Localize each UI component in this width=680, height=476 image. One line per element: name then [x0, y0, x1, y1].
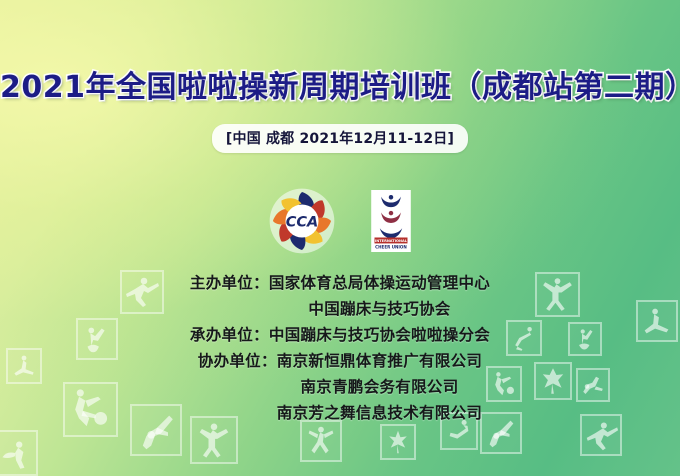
poster-canvas: 2021年全国啦啦操新周期培训班（成都站第二期） [中国 成都 2021年12月… — [0, 0, 680, 476]
title-container: 2021年全国啦啦操新周期培训班（成都站第二期） — [0, 62, 680, 106]
organizer-line: 承办单位：中国蹦床与技巧协会啦啦操分会 — [0, 322, 680, 348]
organizer-line: 协办单位：南京芳之舞信息技术有限公司 — [0, 400, 680, 426]
page-title: 2021年全国啦啦操新周期培训班（成都站第二期） — [0, 62, 680, 106]
cheer-jump-icon — [300, 420, 342, 462]
icu-logo: INTERNATIONAL CHEER UNION — [371, 190, 411, 252]
organizer-line: 主办单位：中国蹦床与技巧协会 — [0, 296, 680, 322]
organizer-value: 南京新恒鼎体育推广有限公司 — [277, 352, 482, 370]
organizer-line: 协办单位：南京新恒鼎体育推广有限公司 — [0, 348, 680, 374]
organizer-line: 主办单位：国家体育总局体操运动管理中心 — [0, 270, 680, 296]
organizer-line: 协办单位：南京青鹏会务有限公司 — [0, 374, 680, 400]
organizer-value: 南京芳之舞信息技术有限公司 — [277, 404, 482, 422]
organizer-label: 主办单位： — [190, 274, 269, 292]
cheer-pom-icon — [380, 424, 416, 460]
organizer-label: 承办单位： — [190, 326, 269, 344]
organizer-value: 国家体育总局体操运动管理中心 — [269, 274, 490, 292]
icu-banner-line2: CHEER UNION — [375, 245, 407, 250]
cca-logo: CCA — [269, 188, 335, 254]
organizer-value: 中国蹦床与技巧协会啦啦操分会 — [269, 326, 490, 344]
gymnast-ribbon-icon — [0, 430, 38, 476]
organizer-info-block: 主办单位：国家体育总局体操运动管理中心 主办单位：中国蹦床与技巧协会 承办单位：… — [0, 270, 680, 426]
organizer-value: 南京青鹏会务有限公司 — [301, 378, 459, 396]
icu-banner-line1: INTERNATIONAL — [375, 239, 408, 243]
organizer-label: 协办单位： — [198, 352, 277, 370]
subtitle-container: [中国 成都 2021年12月11-12日] — [0, 124, 680, 153]
organizer-value: 中国蹦床与技巧协会 — [308, 300, 450, 318]
svg-text:CCA: CCA — [286, 214, 319, 230]
logo-row: CCA INTERNATIONAL CHEER UNION — [0, 186, 680, 256]
event-location-date-badge: [中国 成都 2021年12月11-12日] — [212, 124, 468, 153]
